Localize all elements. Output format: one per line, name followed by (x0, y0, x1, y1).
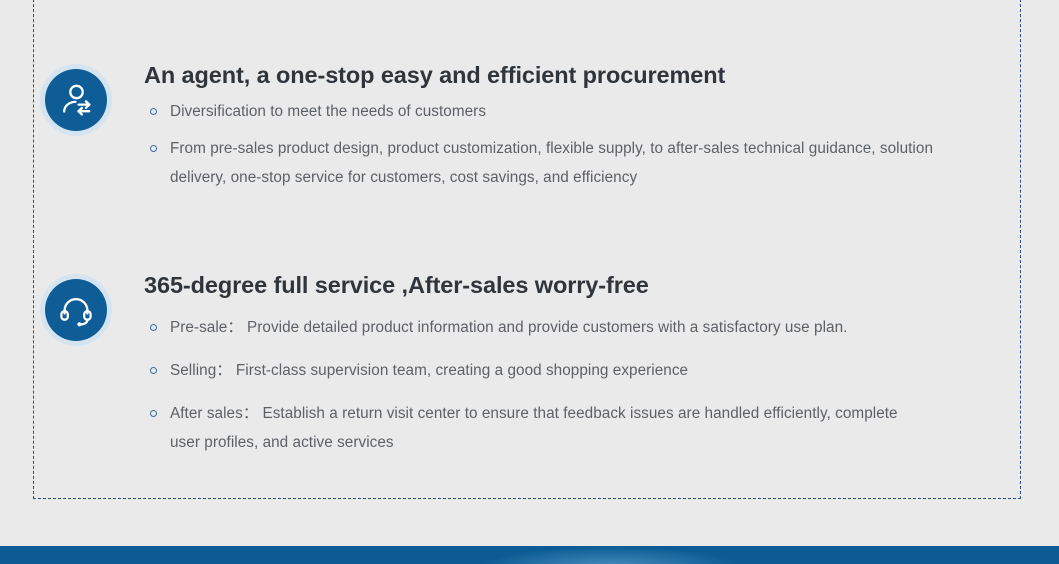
list-item-text: Pre-sale： Provide detailed product infor… (170, 319, 847, 336)
feature-text: 365-degree full service ,After-sales wor… (144, 272, 914, 457)
list-item-text: Diversification to meet the needs of cus… (170, 103, 486, 120)
bullet-list: Diversification to meet the needs of cus… (144, 97, 962, 192)
headset-icon-badge (40, 274, 112, 346)
user-exchange-icon-badge (40, 64, 112, 136)
feature-block-procurement: An agent, a one-stop easy and efficient … (40, 62, 962, 192)
feature-text: An agent, a one-stop easy and efficient … (144, 62, 962, 192)
feature-title: An agent, a one-stop easy and efficient … (144, 62, 962, 89)
bullet-circle-icon (150, 145, 157, 152)
list-item: After sales： Establish a return visit ce… (144, 399, 914, 457)
list-item: Diversification to meet the needs of cus… (144, 97, 962, 126)
bottom-accent-bar (0, 546, 1059, 564)
bullet-circle-icon (150, 367, 157, 374)
bullet-list: Pre-sale： Provide detailed product infor… (144, 313, 914, 457)
list-item: From pre-sales product design, product c… (144, 134, 962, 192)
bottom-bar-highlight (480, 546, 740, 564)
feature-block-after-sales: 365-degree full service ,After-sales wor… (40, 272, 914, 457)
list-item-text: After sales： Establish a return visit ce… (170, 405, 898, 451)
list-item-text: From pre-sales product design, product c… (170, 140, 933, 186)
bullet-circle-icon (150, 108, 157, 115)
user-exchange-icon (45, 69, 107, 131)
list-item-text: Selling： First-class supervision team, c… (170, 362, 688, 379)
bullet-circle-icon (150, 410, 157, 417)
feature-title: 365-degree full service ,After-sales wor… (144, 272, 914, 299)
headset-icon (45, 279, 107, 341)
list-item: Pre-sale： Provide detailed product infor… (144, 313, 914, 342)
list-item: Selling： First-class supervision team, c… (144, 356, 914, 385)
bullet-circle-icon (150, 324, 157, 331)
